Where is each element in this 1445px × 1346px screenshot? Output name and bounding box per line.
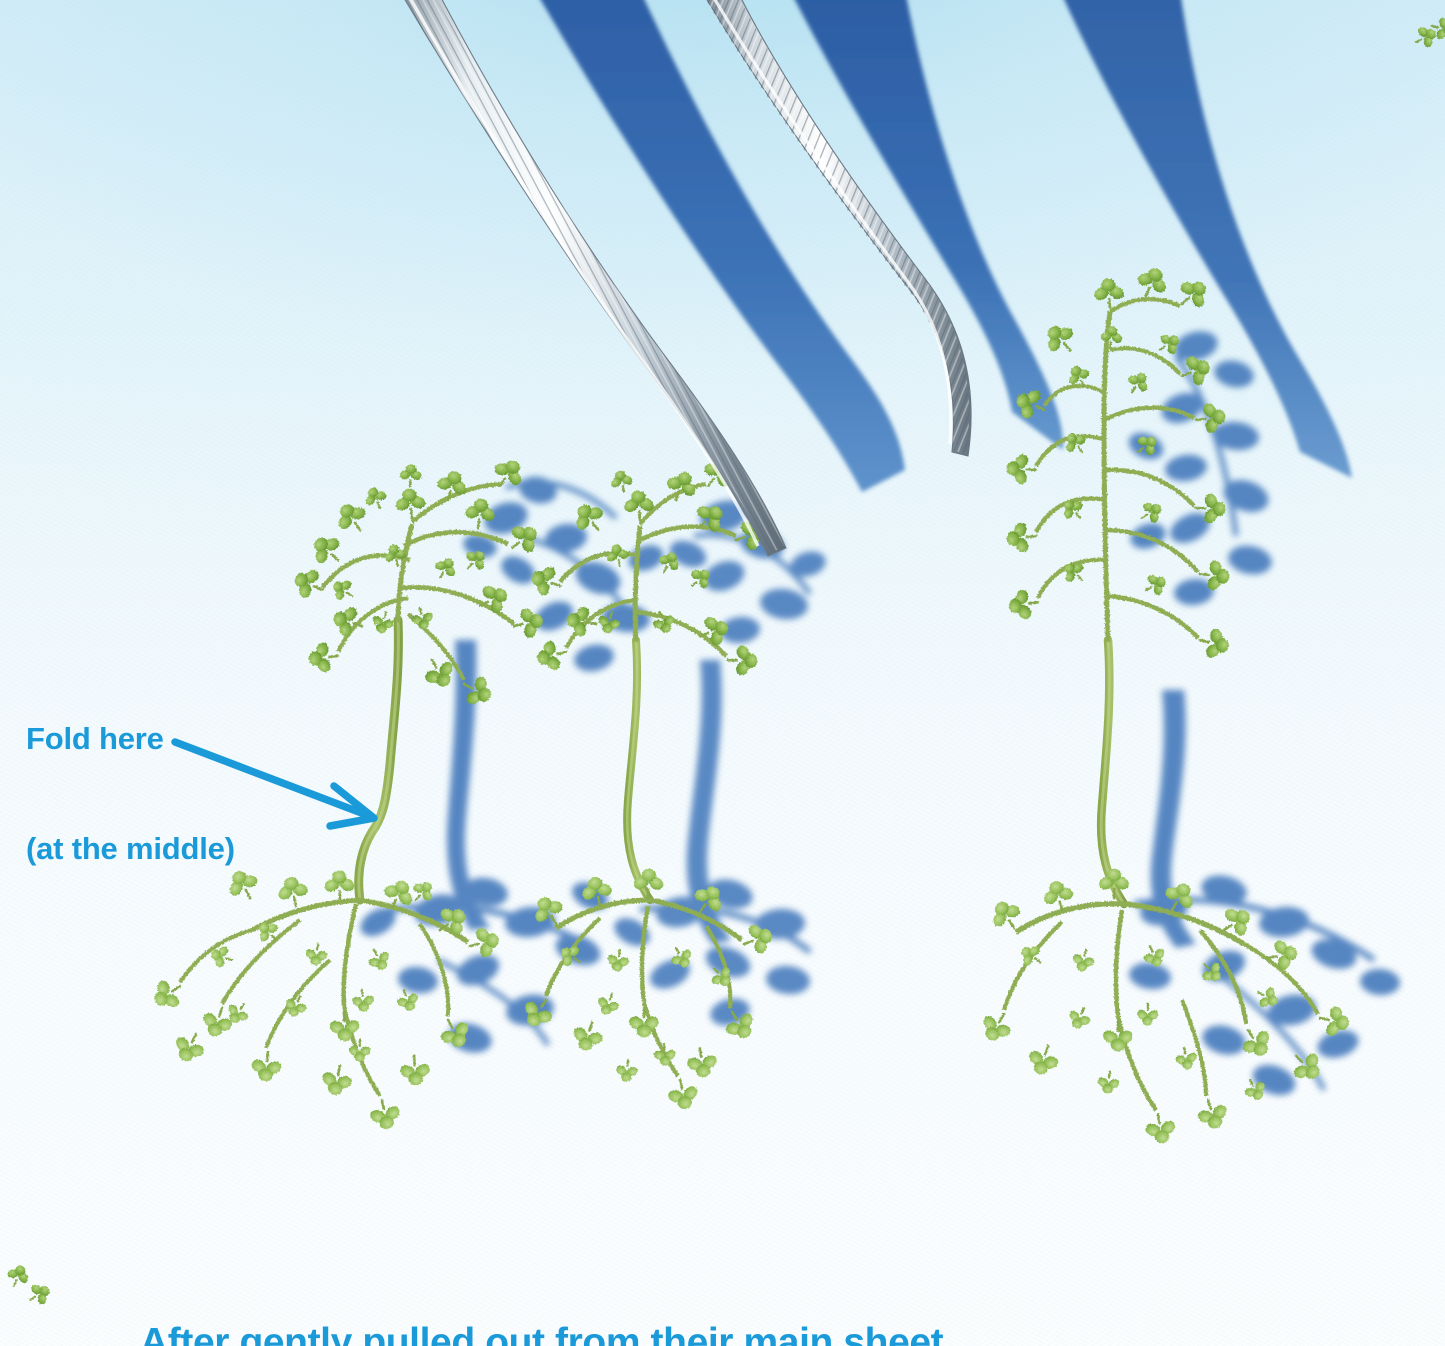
photo-canvas: Fold here (at the middle) After gently p… xyxy=(0,0,1445,1346)
caption-line-1: After gently pulled out from their main … xyxy=(140,1317,954,1346)
fold-label-line-2: (at the middle) xyxy=(26,831,235,868)
fold-here-label: Fold here (at the middle) xyxy=(26,648,235,941)
fold-label-line-1: Fold here xyxy=(26,721,235,758)
instruction-caption: After gently pulled out from their main … xyxy=(140,1212,954,1346)
